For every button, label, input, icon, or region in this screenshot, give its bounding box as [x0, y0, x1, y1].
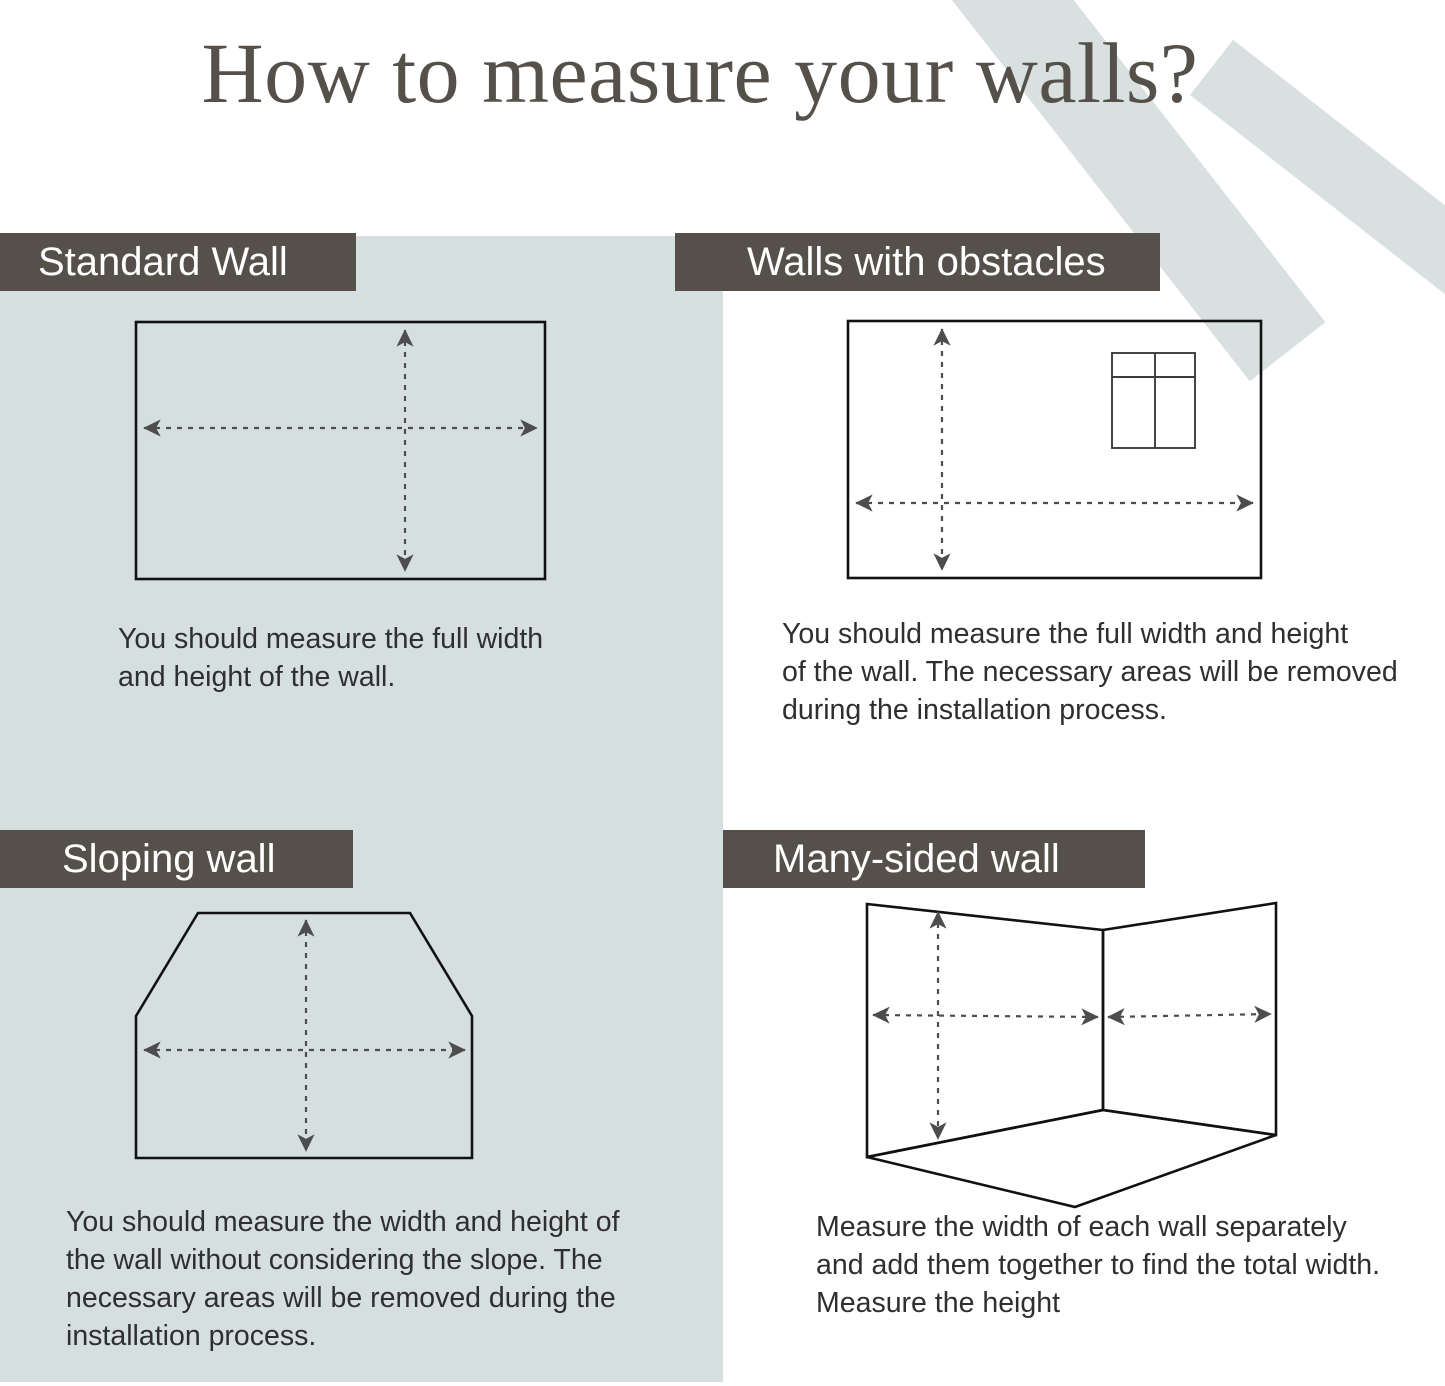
- wall-outline: [136, 322, 545, 579]
- section-body-walls-with-obstacles: You should measure the full width and he…: [782, 615, 1422, 729]
- diagram-many-sided-wall: [840, 890, 1310, 1220]
- infographic-page: How to measure your walls? Standard Wall…: [0, 0, 1445, 1386]
- diagram-sloping-wall: [110, 890, 580, 1190]
- wall-outline: [136, 913, 472, 1158]
- section-heading-walls-with-obstacles: Walls with obstacles: [675, 233, 1160, 291]
- width-measure-arrow-wall-2: [1108, 1014, 1271, 1017]
- section-body-standard-wall: You should measure the full width and he…: [118, 620, 678, 696]
- floor-panel: [867, 1110, 1276, 1207]
- section-body-sloping-wall: You should measure the width and height …: [66, 1203, 666, 1355]
- width-measure-arrow-wall-1: [873, 1015, 1098, 1017]
- wall-right-panel: [1103, 903, 1276, 1135]
- diagram-standard-wall: [110, 300, 580, 600]
- section-heading-standard-wall: Standard Wall: [0, 233, 356, 291]
- page-title: How to measure your walls?: [0, 28, 1400, 118]
- window-obstacle-icon: [1112, 353, 1195, 448]
- wall-outline: [848, 321, 1261, 578]
- section-heading-sloping-wall: Sloping wall: [0, 830, 353, 888]
- section-heading-many-sided-wall: Many-sided wall: [723, 830, 1145, 888]
- diagram-walls-with-obstacles: [820, 300, 1300, 600]
- wall-left-panel: [867, 904, 1103, 1157]
- section-body-many-sided-wall: Measure the width of each wall separatel…: [816, 1208, 1436, 1322]
